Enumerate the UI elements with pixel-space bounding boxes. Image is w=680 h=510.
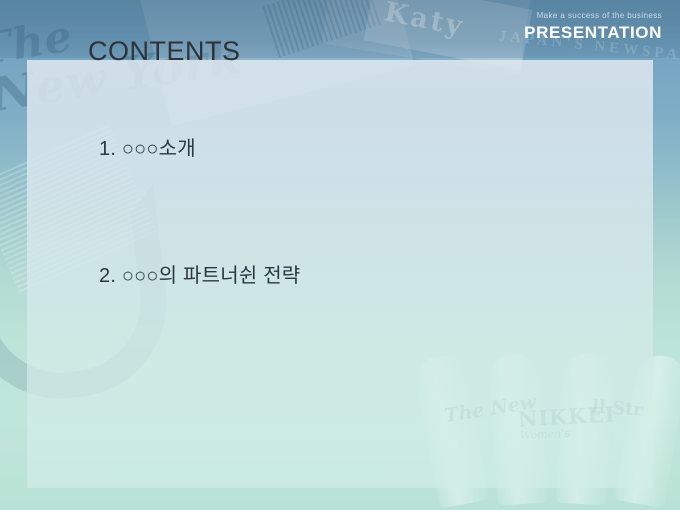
table-of-contents-list: 1. ○○○소개 2. ○○○의 파트너쉰 전략 xyxy=(99,132,633,288)
brand-tagline: Make a success of the business xyxy=(524,12,662,20)
content-panel: 1. ○○○소개 2. ○○○의 파트너쉰 전략 xyxy=(27,60,653,488)
toc-item-2[interactable]: 2. ○○○의 파트너쉰 전략 xyxy=(99,259,633,288)
page-title: CONTENTS xyxy=(88,36,241,67)
presentation-slide: The New York Katy The New NIKKEI Women's… xyxy=(0,0,680,510)
toc-item-1[interactable]: 1. ○○○소개 xyxy=(99,132,633,161)
brand-block: Make a success of the business PRESENTAT… xyxy=(524,12,662,41)
brand-title: PRESENTATION xyxy=(524,24,662,41)
